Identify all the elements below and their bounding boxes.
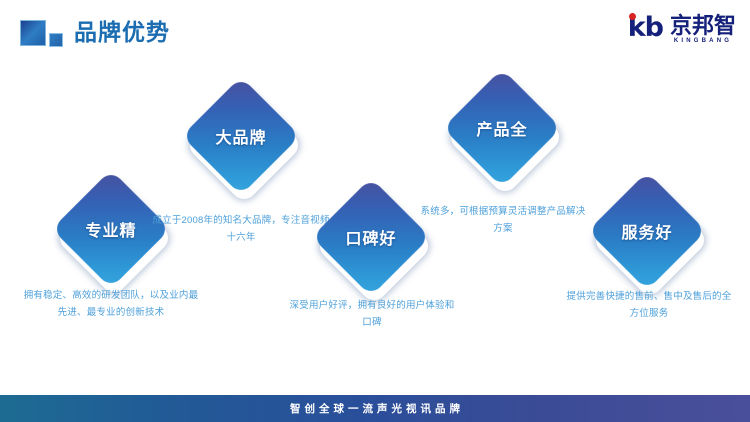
diamond-shape-4: 产品全 bbox=[443, 69, 561, 187]
header-square-small-icon bbox=[49, 33, 63, 47]
feature-label-2: 大品牌 bbox=[182, 77, 300, 195]
diamond-shape-2: 大品牌 bbox=[182, 77, 300, 195]
diamond-shape-3: 口碑好 bbox=[312, 178, 430, 296]
feature-caption-5: 提供完善快捷的售前、售中及售后的全方位服务 bbox=[566, 288, 732, 322]
feature-card-2[interactable]: 大品牌 bbox=[182, 77, 300, 195]
feature-label-5: 服务好 bbox=[588, 172, 706, 290]
logo-mark-text: kb bbox=[628, 14, 663, 42]
logo-dot-icon bbox=[629, 13, 636, 20]
header-square-large-icon bbox=[20, 20, 46, 46]
footer-slogan: 智创全球一流声光视讯品牌 bbox=[286, 401, 464, 416]
brand-logo: kb 京邦智 KINGBANG bbox=[628, 14, 736, 48]
diamond-shape-5: 服务好 bbox=[588, 172, 706, 290]
feature-card-4[interactable]: 产品全 bbox=[443, 69, 561, 187]
feature-card-3[interactable]: 口碑好 bbox=[312, 178, 430, 296]
feature-caption-4: 系统多，可根据预算灵活调整产品解决方案 bbox=[418, 203, 588, 237]
feature-card-5[interactable]: 服务好 bbox=[588, 172, 706, 290]
feature-caption-1: 拥有稳定、高效的研发团队，以及业内最先进、最专业的创新技术 bbox=[22, 287, 200, 321]
slide: 品牌优势 kb 京邦智 KINGBANG 专业精 拥有稳定、高效的研发团队，以及… bbox=[0, 0, 750, 422]
logo-name-en: KINGBANG bbox=[670, 37, 736, 46]
logo-name-group: 京邦智 KINGBANG bbox=[670, 14, 736, 46]
logo-name-cn: 京邦智 bbox=[670, 14, 736, 37]
feature-label-4: 产品全 bbox=[443, 69, 561, 187]
page-title: 品牌优势 bbox=[74, 17, 170, 47]
feature-caption-2: 成立于2008年的知名大品牌，专注音视频十六年 bbox=[152, 212, 330, 246]
feature-label-3: 口碑好 bbox=[312, 178, 430, 296]
feature-caption-3: 深受用户好评，拥有良好的用户体验和口碑 bbox=[287, 297, 457, 331]
slide-footer: 智创全球一流声光视讯品牌 bbox=[0, 395, 750, 422]
